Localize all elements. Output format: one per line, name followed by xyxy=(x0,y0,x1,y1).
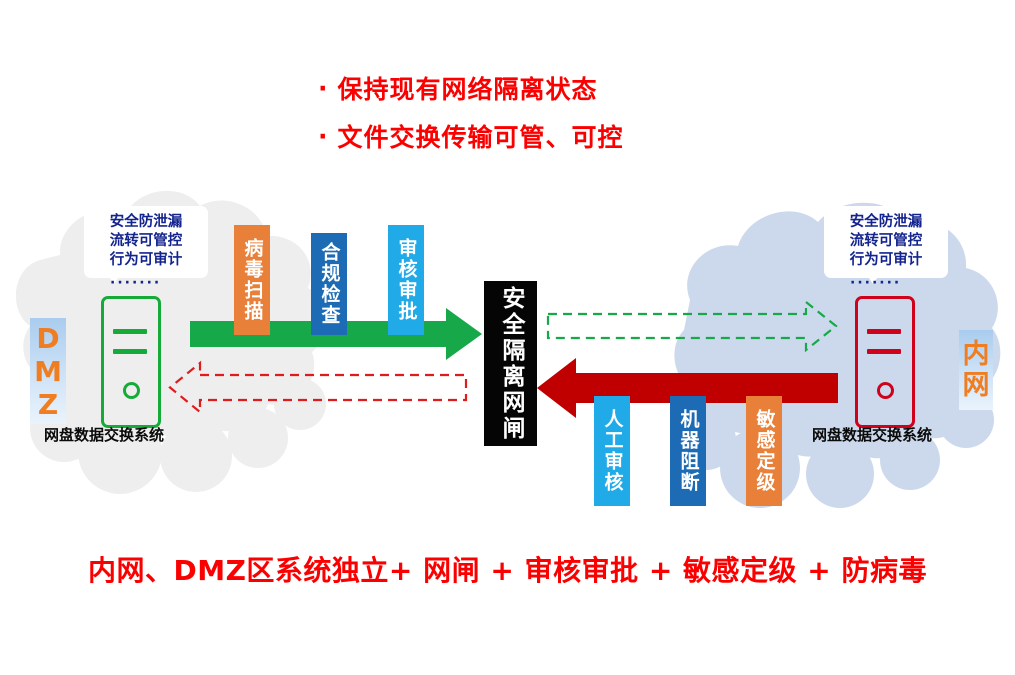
arrow-inbound-dashed xyxy=(170,363,466,412)
footer-summary: 内网、DMZ区系统独立+ 网闸 + 审核审批 + 敏感定级 + 防病毒 xyxy=(0,549,1015,589)
diagram-canvas: · 保持现有网络隔离状态 · 文件交换传输可管、可控 安全防泄漏 流转 xyxy=(0,0,1015,675)
security-gateway-label: 安全隔离网闸 xyxy=(497,286,524,442)
security-gateway: 安全隔离网闸 xyxy=(484,281,537,446)
chip-virus-scan[interactable]: 病毒扫描 xyxy=(234,225,270,335)
chip-label: 合规检查 xyxy=(318,242,341,326)
chip-review-approval[interactable]: 审核审批 xyxy=(388,225,424,335)
chip-label: 审核审批 xyxy=(395,238,418,322)
chip-sensitivity-grading[interactable]: 敏感定级 xyxy=(746,396,782,506)
chip-label: 敏感定级 xyxy=(753,409,776,493)
chip-compliance-check[interactable]: 合规检查 xyxy=(311,233,347,335)
arrow-outbound-dashed xyxy=(548,302,836,350)
chip-manual-review[interactable]: 人工审核 xyxy=(594,396,630,506)
chip-machine-block[interactable]: 机器阻断 xyxy=(670,396,706,506)
chip-label: 病毒扫描 xyxy=(241,238,264,322)
chip-label: 人工审核 xyxy=(601,409,624,493)
chip-label: 机器阻断 xyxy=(677,409,700,493)
